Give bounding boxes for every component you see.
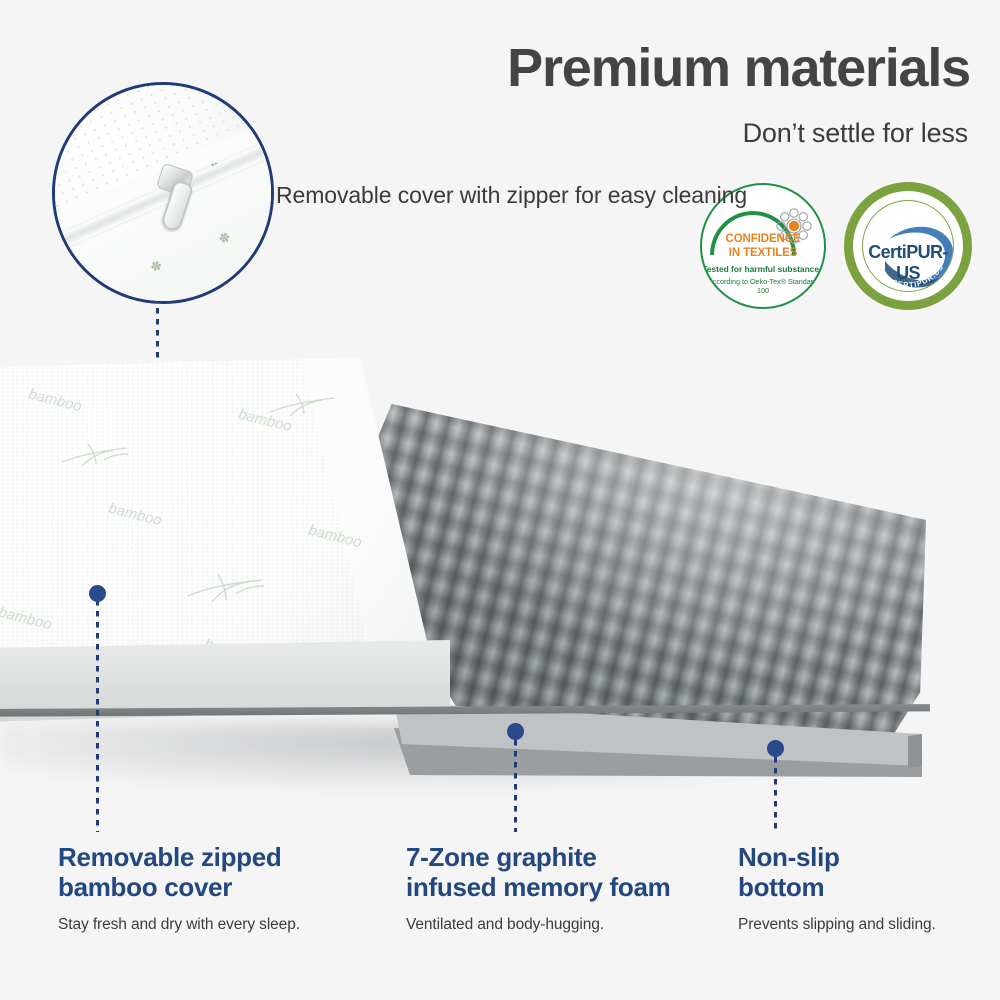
certipur-ring-top-text: CONTAINS CERTIFIED FLEXIBLE POLYURETHANE… [853,191,961,249]
page-subtitle: Don’t settle for less [743,118,968,149]
page-title: Premium materials [507,40,970,97]
leader-line-foam [514,740,517,832]
feature-non-slip-bottom: Non-slip bottom Prevents slipping and sl… [738,842,988,934]
leader-line-cover [96,600,99,832]
feature-title: 7-Zone graphite infused memory foam [406,842,736,903]
bamboo-leaf-icon: ✽ [216,229,235,248]
feature-list: Removable zipped bamboo cover Stay fresh… [0,842,1000,992]
feature-removable-zipped-bamboo-cover: Removable zipped bamboo cover Stay fresh… [58,842,378,934]
oeko-line-2: IN TEXTILES [702,247,824,259]
feature-title: Removable zipped bamboo cover [58,842,378,903]
zipper-detail-circle: ✽ ✽ ✽ ✽ ✽ [52,82,274,304]
oeko-line-1: CONFIDENCE [702,233,824,245]
leader-dot-foam [507,723,524,740]
certipur-ring-text: CONTAINS CERTIFIED FLEXIBLE POLYURETHANE… [853,191,963,301]
certipur-ring-bottom-text: WWW.CERTIPUR.US [870,262,945,289]
zipper-callout-text: Removable cover with zipper for easy cle… [276,180,747,211]
feature-subtitle: Ventilated and body-hugging. [406,916,736,934]
oeko-line-3: Tested for harmful substances [702,264,824,274]
product-image: bamboo bamboo bamboo bamboo bamboo bambo… [0,330,950,800]
bamboo-leaf-icon: ✽ [147,257,166,276]
feature-subtitle: Prevents slipping and sliding. [738,916,988,934]
infographic-canvas: Premium materials Don’t settle for less … [0,0,1000,1000]
feature-7-zone-graphite-infused-memory-foam: 7-Zone graphite infused memory foam Vent… [406,842,736,934]
certipur-us-badge: CONTAINS CERTIFIED FLEXIBLE POLYURETHANE… [844,182,972,310]
leader-dot-nonslip [767,740,784,757]
oeko-line-4: according to Oeko-Tex® Standard 100 [702,277,824,295]
feature-title: Non-slip bottom [738,842,988,903]
leader-line-nonslip [774,757,777,833]
leader-dot-cover [89,585,106,602]
feature-subtitle: Stay fresh and dry with every sleep. [58,916,378,934]
